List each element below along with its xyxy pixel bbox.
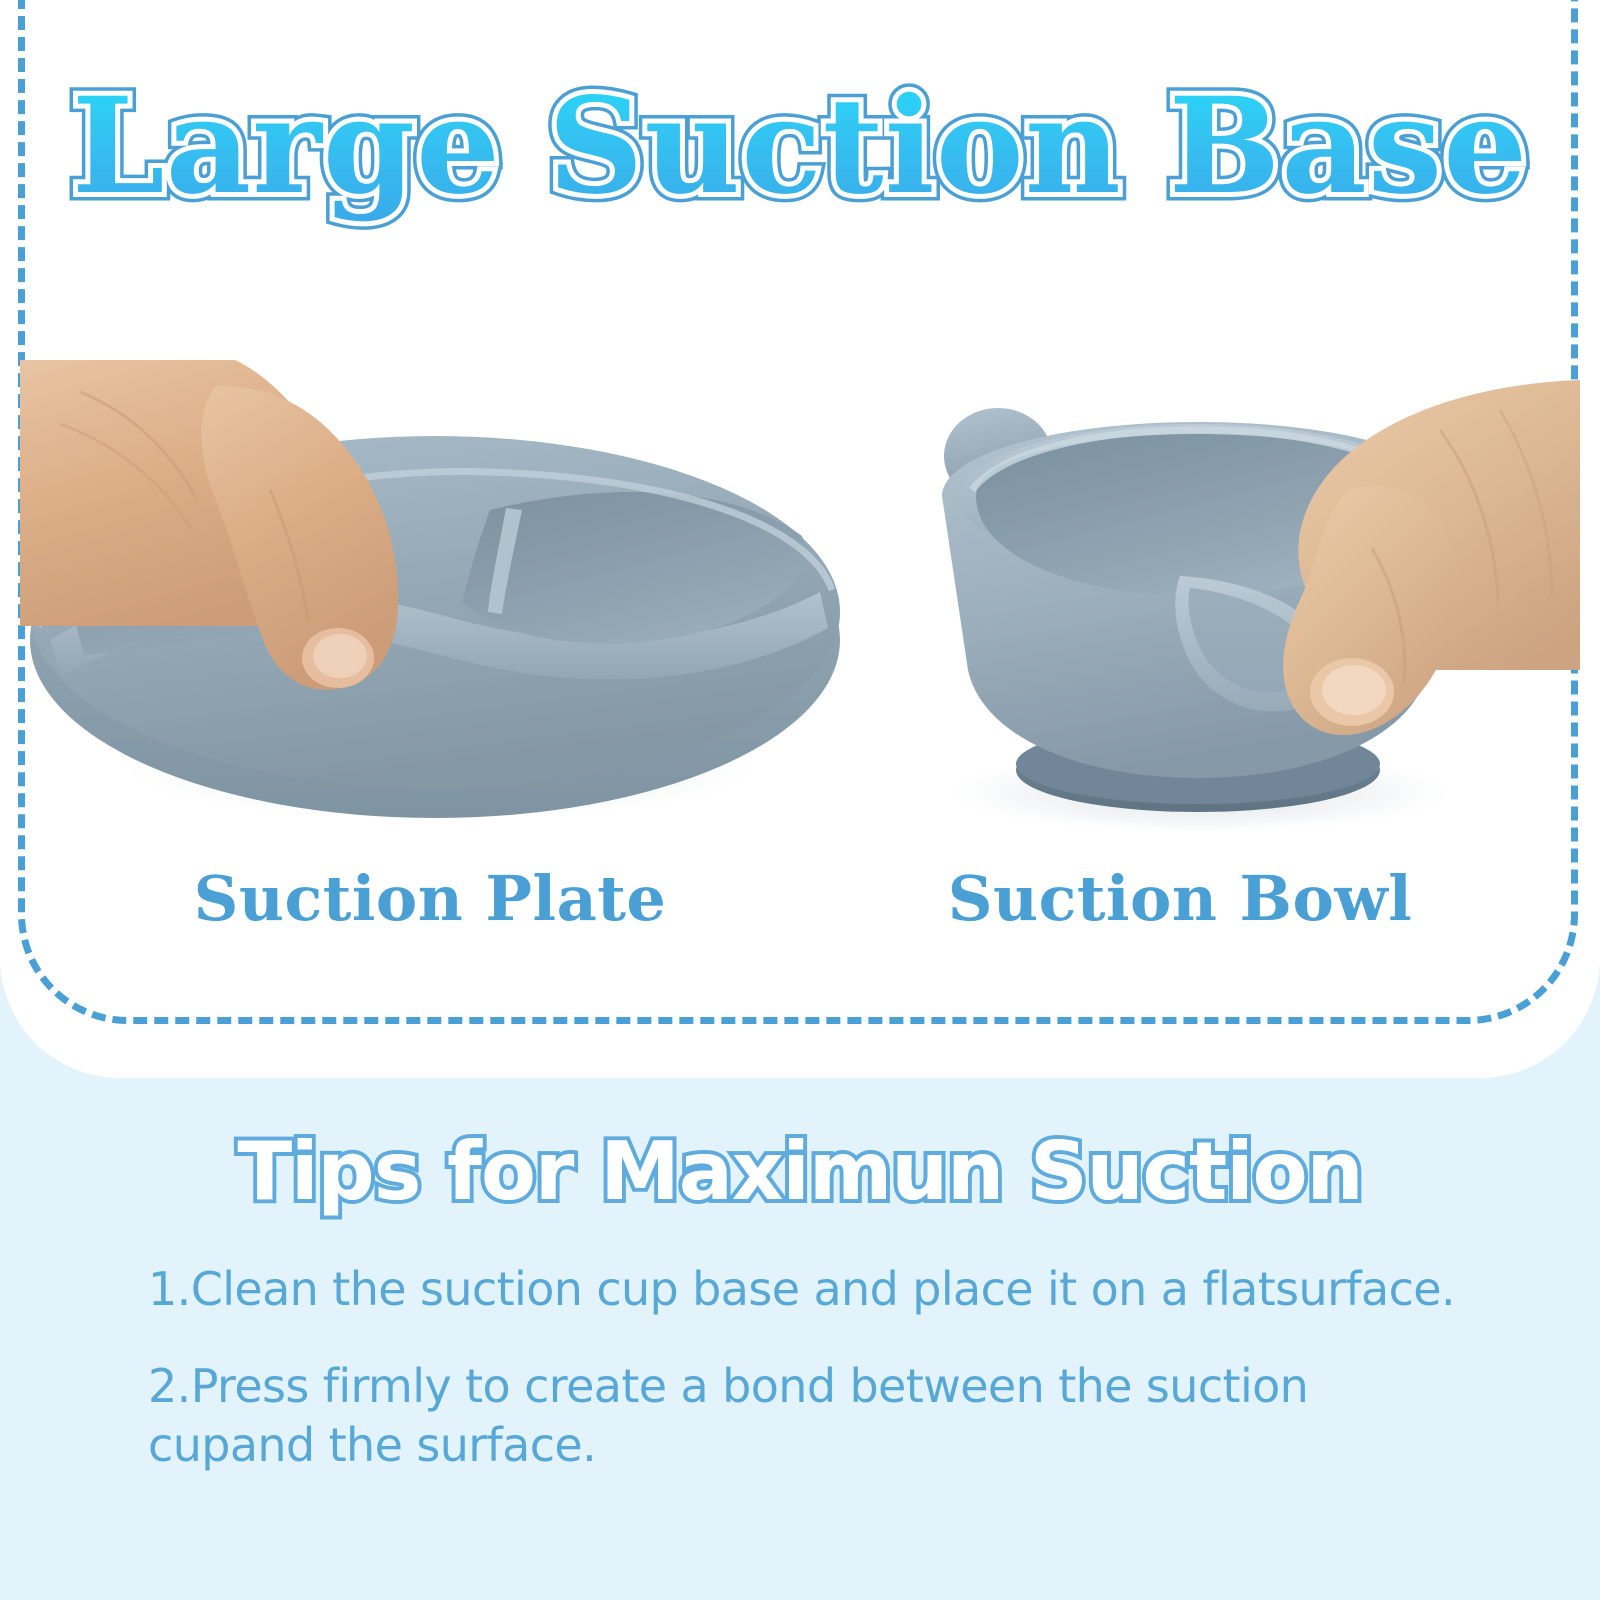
tips-section: Tips for Maximun Suction Tips for Maximu… [0, 1100, 1600, 1600]
tip-item-2: 2.Press firmly to create a bond between … [148, 1357, 1468, 1475]
title-text: Large Suction Base Large Suction Base La… [72, 78, 1528, 217]
product-captions: Suction Plate Suction Bowl [0, 862, 1600, 972]
page-title: Large Suction Base Large Suction Base La… [0, 78, 1600, 217]
white-panel: Large Suction Base Large Suction Base La… [0, 0, 1600, 1078]
plate-fingernail [313, 634, 367, 678]
tips-heading: Tips for Maximun Suction Tips for Maximu… [0, 1128, 1600, 1216]
tips-list: 1.Clean the suction cup base and place i… [148, 1260, 1468, 1513]
suction-bowl-photo [880, 340, 1580, 860]
tips-heading-text: Tips for Maximun Suction Tips for Maximu… [237, 1128, 1362, 1216]
tips-heading-fill-layer: Tips for Maximun Suction [237, 1125, 1362, 1218]
hand-gripping-bowl-photo [880, 340, 1580, 860]
tip-item-1: 1.Clean the suction cup base and place i… [148, 1260, 1468, 1319]
caption-suction-bowl: Suction Bowl [860, 862, 1500, 935]
hand-pressing-divided-plate-photo [20, 340, 850, 860]
product-photo-row [0, 340, 1600, 860]
suction-plate-photo [20, 340, 850, 860]
caption-suction-plate: Suction Plate [80, 862, 780, 935]
bowl-thumbnail [1322, 665, 1386, 715]
title-fill-layer: Large Suction Base [72, 69, 1528, 224]
